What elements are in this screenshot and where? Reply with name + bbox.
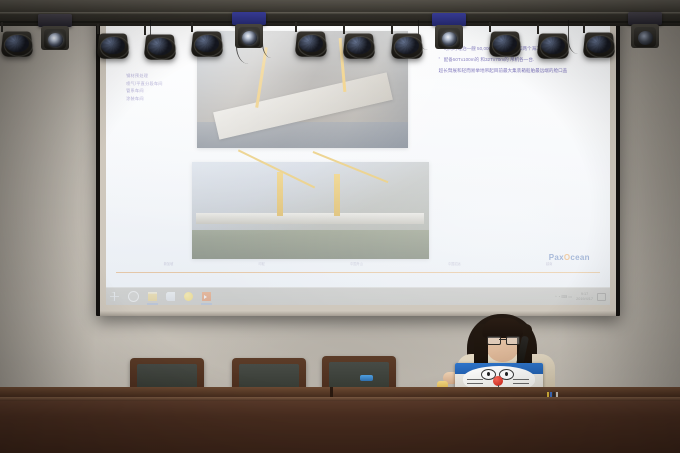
paxocean-logo: PaxOcean (549, 253, 590, 262)
podium-top-rail (0, 387, 680, 396)
lamp-yoke (583, 23, 585, 33)
conference-hall-photo: 钢材预处理 喷气/平直分段车间 管系车间 涂装车间 (0, 0, 680, 453)
lamp-rim (538, 36, 570, 59)
lamp-rim (2, 34, 34, 57)
lamp-rim (98, 36, 130, 59)
system-tray: ^ ◔ ⌨ ▭ 9:17 2019/4/17 (555, 292, 606, 301)
doraemon-whisker (467, 379, 483, 380)
lamp-rim (490, 34, 522, 57)
paxocean-logo-text: PaxOcean (549, 253, 590, 262)
truss-rod (0, 12, 680, 15)
lamp-lens (638, 31, 653, 45)
glasses-lens (487, 336, 501, 345)
glasses-lens (506, 336, 520, 345)
lamp-yoke (343, 24, 345, 34)
lamp-body (391, 34, 424, 59)
doraemon-pupil (487, 372, 490, 376)
photo-crane-jib (313, 151, 388, 183)
lamp-yoke (1, 22, 3, 32)
wall-wainscot (0, 401, 680, 453)
lamp-lens (442, 32, 457, 46)
photo-foreground (192, 230, 429, 259)
windows-taskbar[interactable]: ^ ◔ ⌨ ▭ 9:17 2019/4/17 (106, 287, 610, 305)
slide-footer-tab: 新加坡 (164, 261, 174, 266)
lamp-yoke (489, 22, 491, 32)
lamp-yoke (295, 22, 297, 32)
slide-footer-tab: 中国舟山 (350, 261, 363, 266)
taskbar-icon-group (110, 291, 211, 302)
taskbar-clock[interactable]: 9:17 2019/4/17 (576, 292, 593, 301)
photo-gantry-crane (277, 172, 283, 216)
lamp-yoke (191, 22, 193, 32)
powerpoint-icon[interactable] (202, 292, 211, 301)
lamp-body (1, 32, 34, 57)
lamp-yoke (537, 24, 539, 34)
lamp-body (144, 35, 177, 60)
presenter-hair-fringe (482, 318, 523, 338)
taskbar-active-underline (147, 303, 158, 304)
slide-footer-tab: 中国招远 (448, 261, 461, 266)
glasses-bridge (499, 339, 506, 340)
lamp-yoke (97, 24, 99, 34)
microsoft-store-icon[interactable] (166, 292, 175, 301)
tray-glyphs[interactable]: ^ ◔ ⌨ ▭ (555, 294, 572, 299)
lamp-body (295, 32, 328, 57)
lamp-body (97, 34, 130, 59)
lamp-rim (145, 37, 177, 60)
wainscot-cap-rail (0, 397, 680, 401)
slide-footer-tab: 印尼 (258, 261, 264, 266)
lamp-yoke (144, 25, 146, 35)
paxocean-logo-accent: O (564, 253, 571, 262)
lamp-rim (296, 34, 328, 57)
file-explorer-icon[interactable] (148, 292, 157, 301)
slide-footer-rule (116, 272, 600, 274)
power-cable (262, 20, 285, 58)
eyeglasses-icon (487, 336, 518, 343)
lamp-lens (242, 31, 257, 45)
lamp-yoke (391, 24, 393, 34)
lamp-body (191, 32, 224, 57)
lamp-rim (344, 36, 376, 59)
photo-gantry-crane (334, 174, 340, 216)
lamp-body (489, 32, 522, 57)
lamp-body (343, 34, 376, 59)
lamp-rim (192, 34, 224, 57)
wall-shadow-left (0, 0, 96, 453)
lamp-rim (584, 35, 616, 58)
doraemon-whisker (467, 383, 483, 384)
slide-photo-drydock (192, 162, 429, 258)
slide-bullet-item: 配备50Tx100m的 和32Tx70m的 吊机各一台. (439, 56, 600, 63)
desk-object-blue (360, 375, 373, 381)
media-app-icon[interactable] (184, 292, 193, 301)
start-button-icon[interactable] (110, 292, 119, 301)
doraemon-whisker (513, 379, 529, 380)
slide-footer-tabs: 新加坡 印尼 中国舟山 中国招远 越南 (121, 261, 595, 266)
lamp-rim (392, 36, 424, 59)
photo-vessel-hull (196, 213, 423, 225)
lamp-body (583, 33, 616, 58)
lamp-lens (48, 33, 63, 47)
lamp-body (537, 34, 570, 59)
taskbar-active-underline (201, 303, 212, 304)
clock-date: 2019/4/17 (576, 297, 593, 302)
slide-bullet-note: 超长臂展和轻而易举地吊起目前最大集装箱船舶最远端的舱口盖 (439, 67, 600, 74)
action-center-icon[interactable] (597, 293, 606, 301)
cortana-search-icon[interactable] (128, 291, 139, 302)
doraemon-whisker (513, 383, 529, 384)
doraemon-pupil (505, 372, 508, 376)
slide-footer-tab: 越南 (546, 261, 552, 266)
